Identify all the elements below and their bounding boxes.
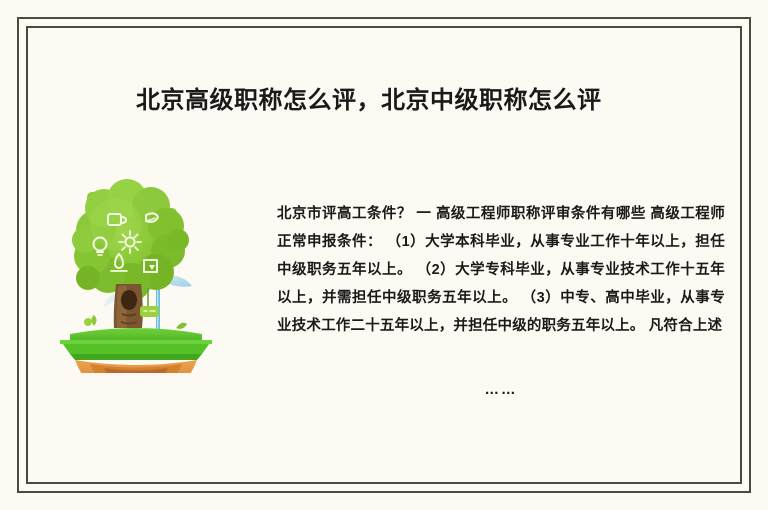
article-ellipsis: …… bbox=[277, 382, 725, 398]
grass-platform bbox=[60, 328, 212, 360]
soil-base bbox=[75, 360, 197, 373]
article-body-text: 北京市评高工条件？ 一 高级工程师职称评审条件有哪些 高级工程师正常申报条件： … bbox=[277, 200, 725, 340]
tree-trunk bbox=[114, 284, 143, 328]
eco-island-illustration bbox=[52, 168, 220, 373]
page-title: 北京高级职称怎么评，北京中级职称怎么评 bbox=[136, 80, 602, 115]
